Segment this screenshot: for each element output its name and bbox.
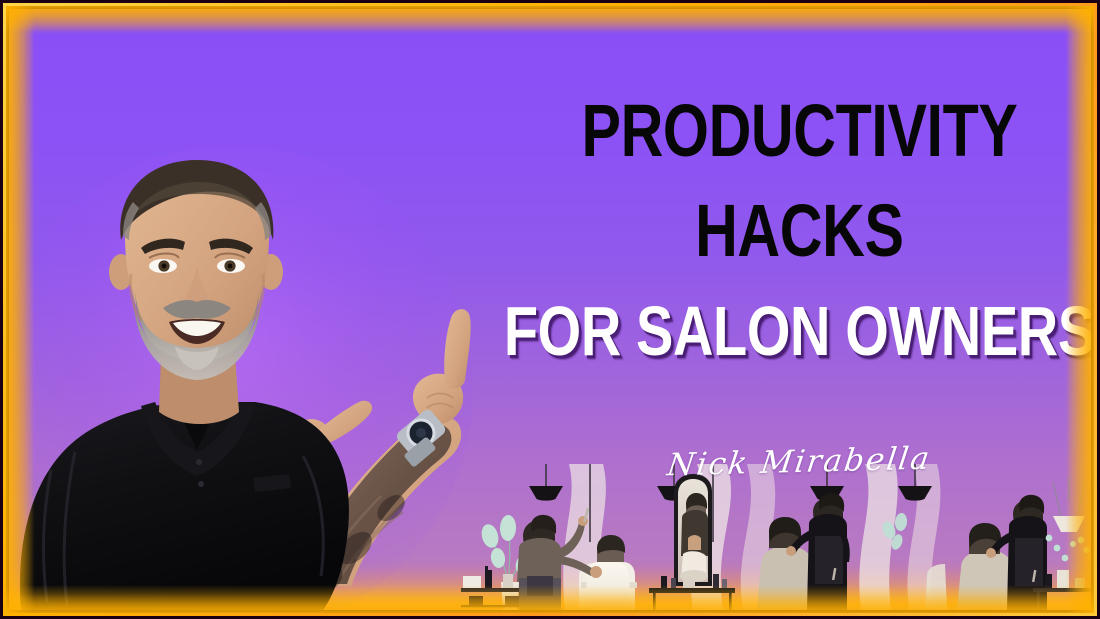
headline-line-1: PRODUCTIVITY	[581, 97, 1017, 165]
promo-banner: PRODUCTIVITY HACKS FOR SALON OWNERS Nick…	[0, 0, 1100, 619]
banner-stage: PRODUCTIVITY HACKS FOR SALON OWNERS Nick…	[9, 9, 1091, 610]
presenter-name: Nick Mirabella	[665, 440, 933, 483]
headline-line-3: FOR SALON OWNERS	[504, 299, 1091, 363]
salon-illustration	[461, 464, 1091, 610]
headline-line-2: HACKS	[695, 197, 904, 265]
headline-block: PRODUCTIVITY HACKS FOR SALON OWNERS Nick…	[509, 9, 1089, 479]
presenter-portrait	[9, 140, 523, 610]
